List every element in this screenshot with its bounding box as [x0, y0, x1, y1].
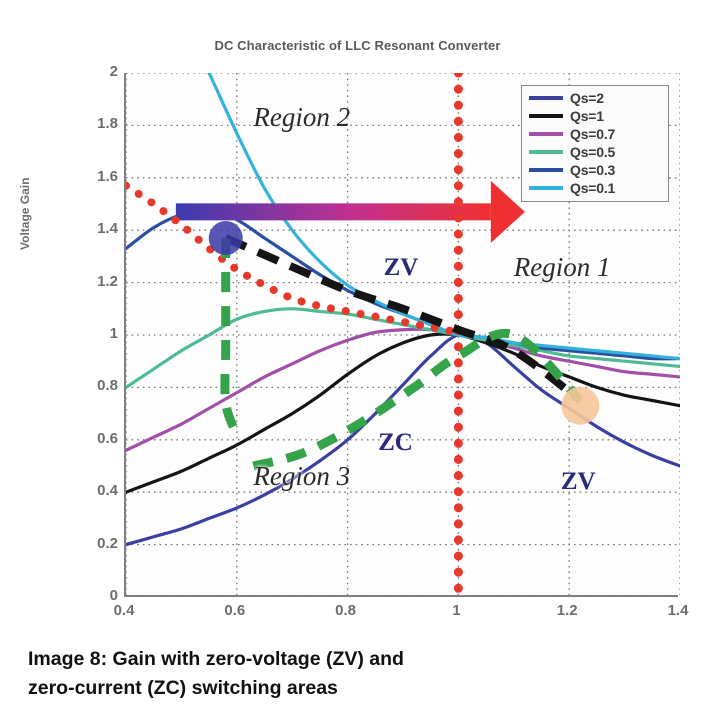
peak-gain-point [209, 221, 243, 255]
annotation-zv-lower: ZV [561, 468, 596, 496]
legend-item: Qs=1 [526, 107, 664, 125]
x-axis-tick-label: 0.8 [316, 602, 376, 619]
legend-color-swatch [529, 168, 563, 172]
legend-item-label: Qs=0.3 [570, 162, 615, 178]
x-axis-tick-label: 1 [426, 602, 486, 619]
annotation-region-1: Region 1 [514, 252, 611, 283]
x-axis-tick-label: 1.4 [648, 602, 708, 619]
y-axis-tick-label: 1.4 [62, 220, 118, 237]
legend-color-swatch [529, 132, 563, 136]
legend-color-swatch [529, 96, 563, 100]
caption-line-1: Image 8: Gain with zero-voltage (ZV) and [28, 645, 668, 674]
y-axis-title-text: Voltage Gain [18, 178, 32, 250]
annotation-zc: ZC [378, 429, 413, 457]
y-axis-tick-label: 1.2 [62, 273, 118, 290]
figure-caption: Image 8: Gain with zero-voltage (ZV) and… [28, 645, 668, 703]
y-axis-title: Voltage Gain [18, 130, 38, 250]
y-axis-tick-label: 2 [62, 63, 118, 80]
legend-item-label: Qs=0.5 [570, 144, 615, 160]
legend-item-label: Qs=0.1 [570, 180, 615, 196]
y-axis-tick-label: 0.2 [62, 535, 118, 552]
y-axis-tick-label: 0.8 [62, 377, 118, 394]
figure-container: DC Characteristic of LLC Resonant Conver… [0, 0, 715, 726]
caption-line-2: zero-current (ZC) switching areas [28, 674, 668, 703]
legend-color-swatch [529, 114, 563, 118]
y-axis-tick-label: 0.6 [62, 430, 118, 447]
operating-point [561, 387, 599, 425]
legend-item-label: Qs=0.7 [570, 126, 615, 142]
legend-item: Qs=0.1 [526, 179, 664, 197]
chart-title: DC Characteristic of LLC Resonant Conver… [0, 38, 715, 53]
annotation-region-3: Region 3 [253, 461, 350, 492]
legend-item: Qs=2 [526, 89, 664, 107]
legend-item: Qs=0.7 [526, 125, 664, 143]
arrow-head [491, 181, 525, 243]
y-axis-tick-label: 0.4 [62, 482, 118, 499]
y-axis-tick-label: 1.8 [62, 115, 118, 132]
annotation-zv-upper: ZV [384, 254, 419, 282]
legend-item: Qs=0.5 [526, 143, 664, 161]
legend-color-swatch [529, 186, 563, 190]
x-axis-tick-label: 0.6 [205, 602, 265, 619]
chart-legend: Qs=2Qs=1Qs=0.7Qs=0.5Qs=0.3Qs=0.1 [521, 85, 669, 202]
legend-item-label: Qs=2 [570, 90, 604, 106]
legend-item-label: Qs=1 [570, 108, 604, 124]
x-axis-tick-label: 1.2 [537, 602, 597, 619]
y-axis-tick-label: 1.6 [62, 168, 118, 185]
chart-figure: DC Characteristic of LLC Resonant Conver… [0, 0, 715, 635]
x-axis-tick-label: 0.4 [94, 602, 154, 619]
annotation-region-2: Region 2 [253, 102, 350, 133]
legend-color-swatch [529, 150, 563, 154]
legend-item: Qs=0.3 [526, 161, 664, 179]
arrow-shaft [176, 203, 491, 220]
y-axis-tick-label: 1 [62, 325, 118, 342]
